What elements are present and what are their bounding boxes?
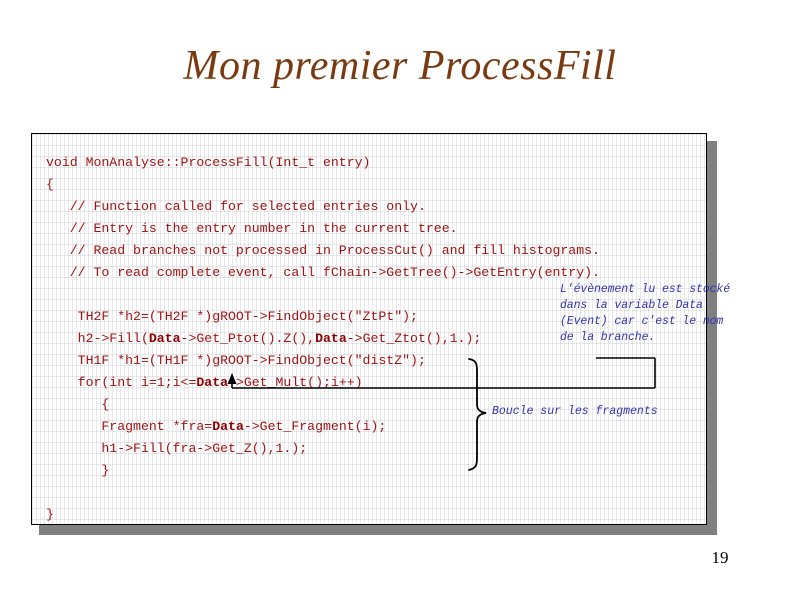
code-token-data: Data xyxy=(212,419,244,434)
code-line: } xyxy=(46,504,600,525)
code-line xyxy=(46,284,600,306)
annotation-loop-note: Boucle sur les fragments xyxy=(492,404,658,420)
code-line: TH1F *h1=(TH1F *)gROOT->FindObject("dist… xyxy=(46,350,600,372)
code-listing: void MonAnalyse::ProcessFill(Int_t entry… xyxy=(46,152,600,525)
code-line: // Function called for selected entries … xyxy=(46,196,600,218)
page-title: Mon premier ProcessFill xyxy=(0,40,800,92)
code-line: // Read branches not processed in Proces… xyxy=(46,240,600,262)
slide-page-number: 19 xyxy=(700,548,740,568)
code-line: } xyxy=(46,460,600,482)
code-line: h1->Fill(fra->Get_Z(),1.); xyxy=(46,438,600,460)
code-token-data: Data xyxy=(196,375,228,390)
code-token-data: Data xyxy=(149,331,181,346)
code-line: void MonAnalyse::ProcessFill(Int_t entry… xyxy=(46,152,600,174)
code-line: // To read complete event, call fChain->… xyxy=(46,262,600,284)
code-line: { xyxy=(46,174,600,196)
annotation-event-note: L'évènement lu est stocké dans la variab… xyxy=(560,282,730,346)
code-line: TH2F *h2=(TH2F *)gROOT->FindObject("ZtPt… xyxy=(46,306,600,328)
code-token-data: Data xyxy=(315,331,347,346)
code-line: h2->Fill(Data->Get_Ptot().Z(),Data->Get_… xyxy=(46,328,600,350)
code-line xyxy=(46,482,600,504)
code-line: // Entry is the entry number in the curr… xyxy=(46,218,600,240)
code-line: for(int i=1;i<=Data->Get_Mult();i++) xyxy=(46,372,600,394)
